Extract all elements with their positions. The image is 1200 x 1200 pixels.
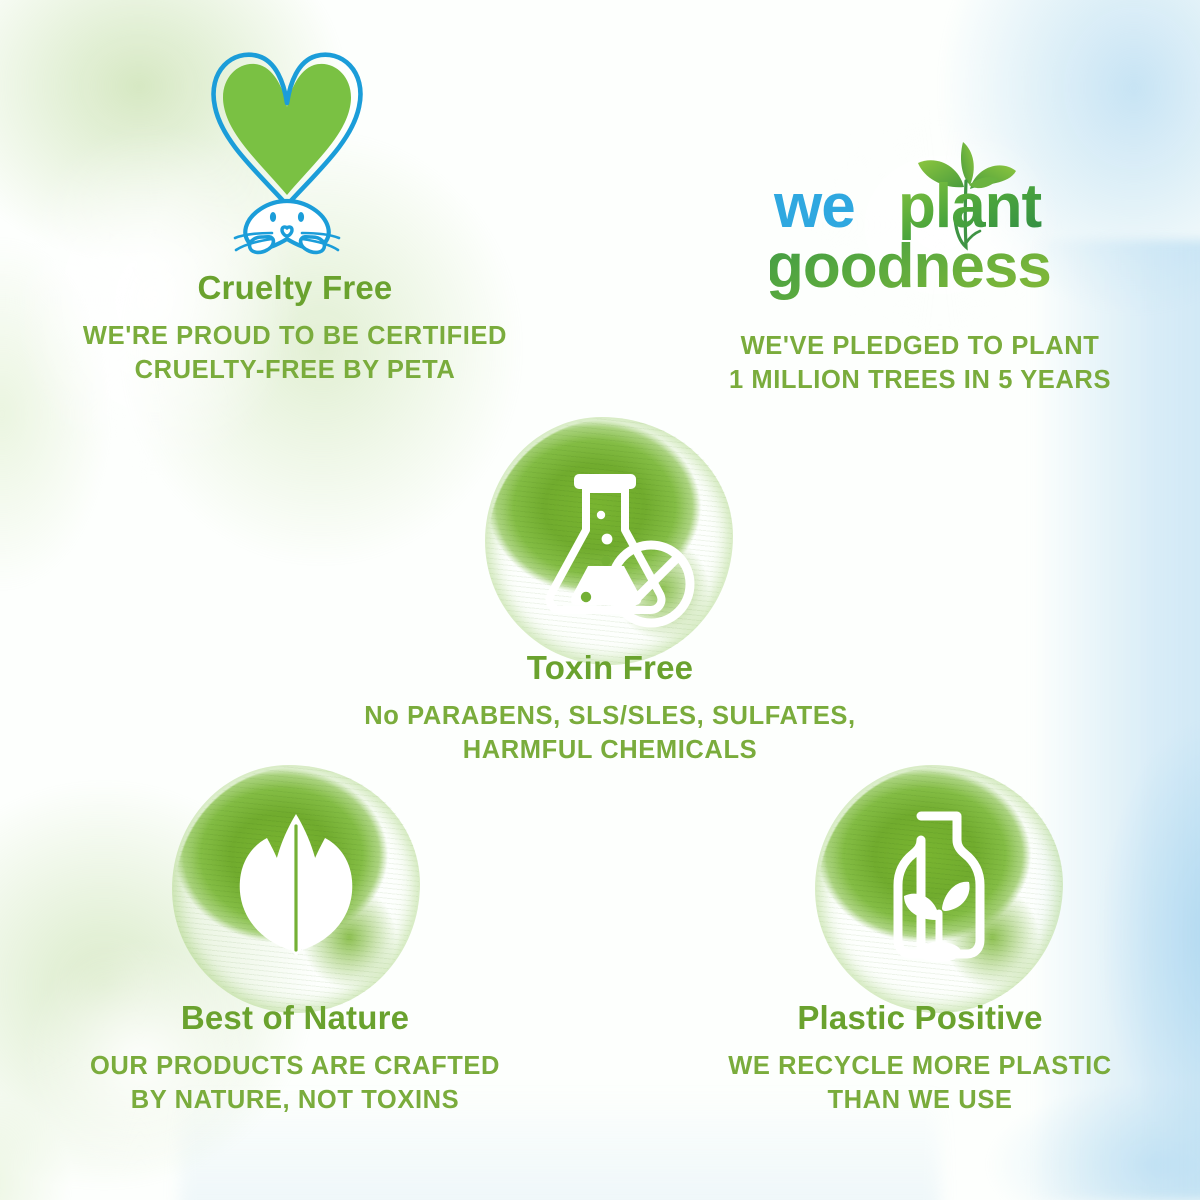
badge-description-line: WE'RE PROUD TO BE CERTIFIED: [83, 322, 507, 350]
badge-description: WE RECYCLE MORE PLASTIC THAN WE USE: [660, 1050, 1180, 1118]
infographic-canvas: Cruelty Free WE'RE PROUD TO BE CERTIFIED…: [0, 0, 1200, 1200]
badge-title: Plastic Positive: [660, 1000, 1180, 1036]
badge-plastic-positive: Plastic Positive WE RECYCLE MORE PLASTIC…: [660, 1000, 1180, 1118]
svg-text:goodness: goodness: [770, 232, 1051, 301]
svg-text:we: we: [773, 172, 855, 241]
badge-description-line: WE'VE PLEDGED TO PLANT: [741, 332, 1100, 360]
badge-description: OUR PRODUCTS ARE CRAFTED BY NATURE, NOT …: [15, 1050, 575, 1118]
badge-description: WE'VE PLEDGED TO PLANT 1 MILLION TREES I…: [660, 330, 1180, 398]
badge-title: Best of Nature: [15, 1000, 575, 1036]
badge-description-line: WE RECYCLE MORE PLASTIC: [728, 1052, 1112, 1080]
badge-description-line: CRUELTY-FREE BY PETA: [135, 356, 456, 384]
badge-cruelty-free: Cruelty Free WE'RE PROUD TO BE CERTIFIED…: [15, 270, 575, 388]
badge-description-line: HARMFUL CHEMICALS: [463, 736, 757, 764]
bottle-sprout-icon: [818, 768, 1060, 1010]
badge-title: Cruelty Free: [15, 270, 575, 306]
badge-description: WE'RE PROUD TO BE CERTIFIED CRUELTY-FREE…: [15, 320, 575, 388]
badge-description-line: No PARABENS, SLS/SLES, SULFATES,: [364, 702, 855, 730]
badge-description: No PARABENS, SLS/SLES, SULFATES, HARMFUL…: [330, 700, 890, 768]
badge-description-line: BY NATURE, NOT TOXINS: [131, 1086, 460, 1114]
badge-we-plant-goodness: WE'VE PLEDGED TO PLANT 1 MILLION TREES I…: [660, 330, 1180, 398]
bunny-heart-icon: [190, 45, 385, 260]
we-plant-goodness-logo: we plant goodness: [770, 135, 1140, 305]
badge-title: Toxin Free: [330, 650, 890, 686]
badge-description-line: OUR PRODUCTS ARE CRAFTED: [90, 1052, 500, 1080]
badge-toxin-free: Toxin Free No PARABENS, SLS/SLES, SULFAT…: [330, 650, 890, 768]
svg-text:plant: plant: [898, 172, 1041, 241]
badge-description-line: 1 MILLION TREES IN 5 YEARS: [729, 366, 1111, 394]
badge-description-line: THAN WE USE: [827, 1086, 1012, 1114]
flask-no-toxins-icon: [488, 420, 730, 662]
three-leaves-icon: [175, 768, 417, 1010]
badge-best-of-nature: Best of Nature OUR PRODUCTS ARE CRAFTED …: [15, 1000, 575, 1118]
